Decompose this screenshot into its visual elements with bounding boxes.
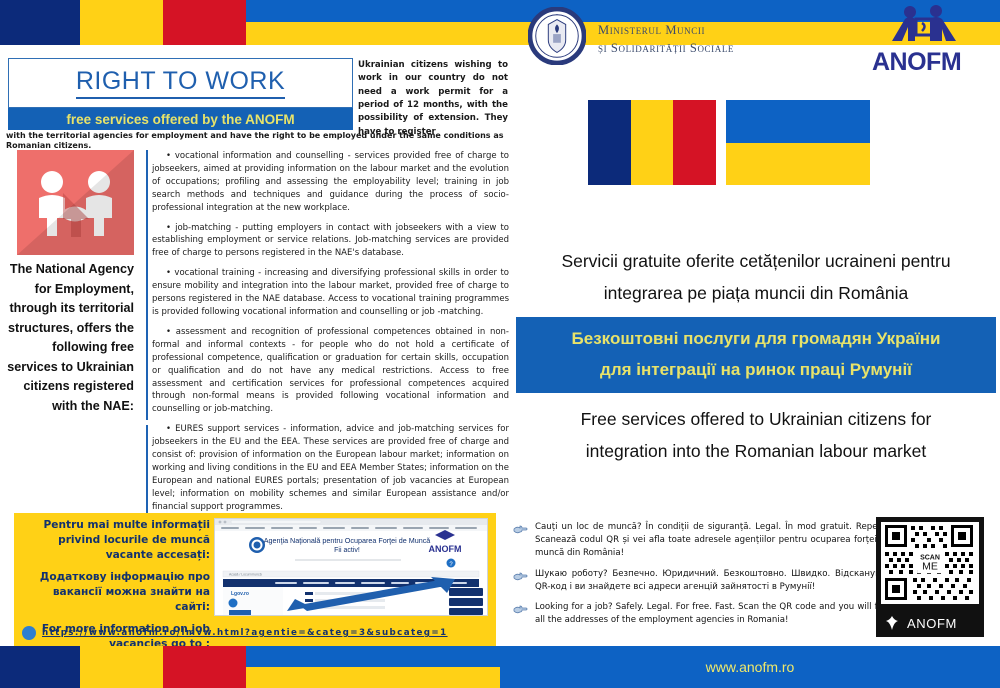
page-title: RIGHT TO WORK	[76, 67, 285, 99]
ministry-line-2: și Solidarității Sociale	[598, 39, 734, 57]
website-screenshot: Agenţia Naţională pentru Ocuparea Forţei…	[214, 518, 488, 616]
bullet-dot-icon	[22, 626, 36, 640]
qr-cta-list: Cauți un loc de muncă? În condiții de si…	[505, 513, 893, 627]
flags-row	[588, 100, 888, 185]
government-header-row: • Ministerul Muncii și Solidarității Soc…	[520, 7, 990, 75]
cta-text-ro: Cauți un loc de muncă? În condiții de si…	[535, 521, 891, 560]
romanian-flag-red-stripe	[163, 0, 246, 45]
list-item: Looking for a job? Safely. Legal. For fr…	[513, 601, 893, 627]
qr-code-frame: SCAN ME	[876, 517, 984, 609]
romanian-flag-navy-stripe	[0, 0, 80, 45]
qr-code-label-bar: ANOFM	[876, 609, 984, 637]
column-divider-top	[146, 150, 148, 420]
job-vacancies-url-row[interactable]: https://www.anofm.ro/lmvw.html?agentie=&…	[22, 626, 492, 640]
job-vacancies-text-ro: Pentru mai multe informații privind locu…	[20, 518, 210, 563]
subtitle-bar: free services offered by the ANOFM	[8, 108, 353, 130]
cta-text-en: Looking for a job? Safely. Legal. For fr…	[535, 601, 891, 627]
agency-caption: The National Agency for Employment, thro…	[6, 260, 134, 416]
headline-ro-line-1: Servicii gratuite oferite cetățenilor uc…	[516, 245, 996, 277]
headline-ua-line-1: Безкоштовні послуги для громадян України	[516, 323, 996, 354]
job-vacancies-panel: Pentru mai multe informații privind locu…	[14, 513, 496, 646]
right-leaflet-panel: • Ministerul Muncii și Solidarității Soc…	[512, 45, 1000, 510]
footer-website-url[interactable]: www.anofm.ro	[706, 659, 795, 675]
footer-ua-blue-stripe	[246, 646, 500, 667]
scan-me-bottom: ME	[920, 561, 940, 572]
qr-code-label: ANOFM	[907, 616, 957, 631]
footer-bar: www.anofm.ro	[0, 646, 1000, 688]
left-leaflet-panel: RIGHT TO WORK free services offered by t…	[0, 45, 512, 510]
job-vacancies-url[interactable]: https://www.anofm.ro/lmvw.html?agentie=&…	[42, 628, 448, 638]
handshake-illustration	[17, 150, 134, 255]
service-item: • job-matching - putting employers in co…	[152, 222, 509, 261]
headline-english: Free services offered to Ukrainian citiz…	[516, 403, 996, 468]
headline-en-line-2: integration into the Romanian labour mar…	[516, 435, 996, 467]
right-to-work-title-box: RIGHT TO WORK	[8, 58, 353, 108]
footer-red-stripe	[163, 646, 246, 688]
job-vacancies-text-ua: Додаткову інформацію про вакансії можна …	[20, 570, 210, 615]
service-item: • assessment and recognition of professi…	[152, 326, 509, 416]
leaflet-page: RIGHT TO WORK free services offered by t…	[0, 0, 1000, 688]
service-item: • EURES support services - information, …	[152, 423, 509, 513]
footer-ua-yellow-stripe	[246, 667, 500, 688]
headline-en-line-1: Free services offered to Ukrainian citiz…	[516, 403, 996, 435]
romanian-flag-icon	[588, 100, 716, 185]
pointing-hand-icon	[513, 523, 528, 536]
anofm-wordmark: ANOFM	[872, 48, 982, 77]
headline-ukrainian: Безкоштовні послуги для громадян України…	[516, 317, 996, 393]
footer-navy-stripe	[0, 646, 80, 688]
illustration-shadow	[17, 150, 134, 255]
footer-website-area[interactable]: www.anofm.ro	[500, 646, 1000, 688]
ukrainian-flag-icon	[726, 100, 870, 185]
svg-text:ANOFM: ANOFM	[429, 544, 462, 554]
svg-text:Agenţia Naţională pentru Ocupa: Agenţia Naţională pentru Ocuparea Forţei…	[264, 536, 431, 545]
headline-ro-line-2: integrarea pe piața muncii din România	[516, 277, 996, 309]
svg-text:Lgov.ro: Lgov.ro	[231, 591, 249, 597]
qr-code-image: SCAN ME	[881, 522, 979, 604]
pointing-hand-icon	[513, 570, 528, 583]
headline-romanian: Servicii gratuite oferite cetățenilor uc…	[516, 245, 996, 310]
cta-text-ua: Шукаю роботу? Безпечно. Юридичний. Безко…	[535, 568, 891, 594]
intro-paragraph-right: Ukrainian citizens wishing to work in ou…	[358, 59, 508, 139]
service-item: • vocational training - increasing and d…	[152, 267, 509, 319]
list-item: Cauți un loc de muncă? În condiții de si…	[513, 521, 893, 560]
adobe-acrobat-icon	[884, 615, 900, 631]
headline-ua-line-2: для інтеграції на ринок праці Румунії	[516, 354, 996, 385]
footer-ukrainian-flag	[246, 646, 500, 688]
svg-text:Fii activ!: Fii activ!	[334, 547, 360, 554]
list-item: Шукаю роботу? Безпечно. Юридичний. Безко…	[513, 568, 893, 594]
qr-call-to-action-panel: Cauți un loc de muncă? În condiții de si…	[505, 513, 1000, 646]
scan-me-label: SCAN ME	[917, 553, 943, 573]
pointing-hand-icon	[513, 603, 528, 616]
services-list: • vocational information and counselling…	[152, 150, 509, 521]
qr-code-block[interactable]: SCAN ME ANOFM	[876, 517, 984, 637]
romanian-flag-yellow-stripe	[80, 0, 163, 45]
ministry-line-1: Ministerul Muncii	[598, 21, 734, 39]
anofm-logo: ANOFM	[872, 5, 982, 69]
romanian-government-seal-icon: •	[528, 7, 586, 65]
browser-screenshot-graphic: Agenţia Naţională pentru Ocuparea Forţei…	[215, 519, 487, 615]
service-item: • vocational information and counselling…	[152, 150, 509, 215]
svg-text:Acasă / Locuri muncă: Acasă / Locuri muncă	[229, 573, 262, 577]
ministry-name: Ministerul Muncii și Solidarității Socia…	[598, 21, 734, 57]
footer-yellow-stripe	[80, 646, 163, 688]
subtitle-text: free services offered by the ANOFM	[66, 112, 294, 127]
svg-text:•: •	[556, 14, 558, 19]
intro-paragraph-continuation: with the territorial agencies for employ…	[6, 131, 509, 152]
anofm-figures-icon	[872, 5, 982, 43]
